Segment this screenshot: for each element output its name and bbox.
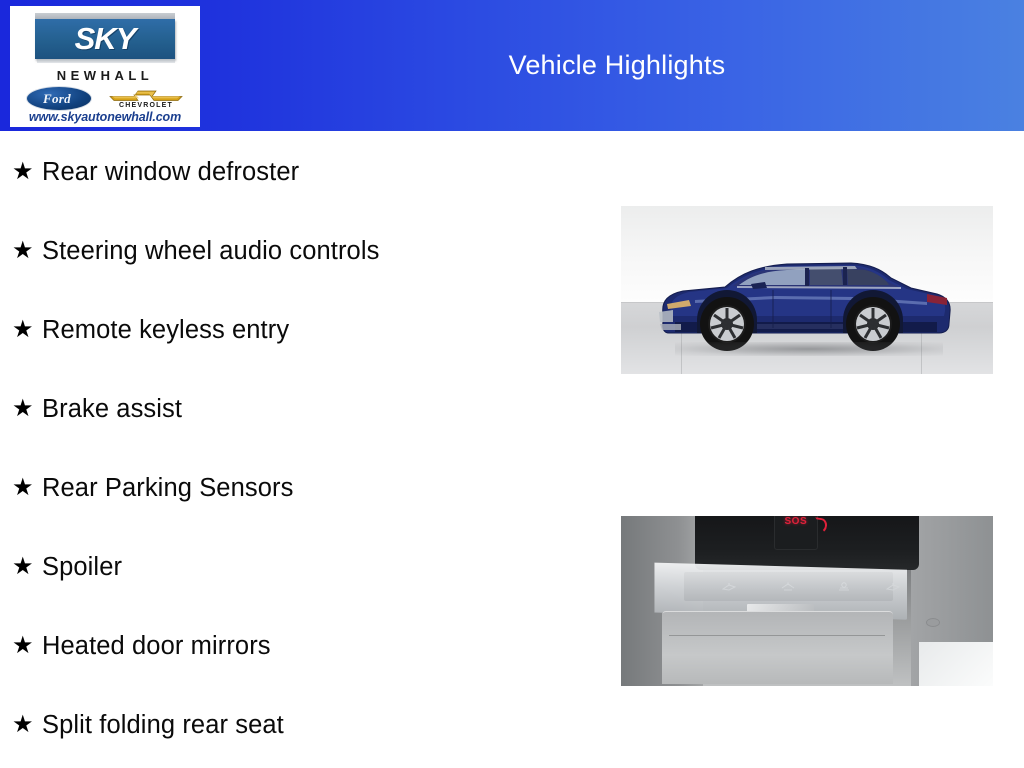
list-item: ★ Rear window defroster bbox=[12, 155, 299, 189]
list-item: ★ Steering wheel audio controls bbox=[12, 234, 379, 268]
badge-bottom-bar bbox=[37, 59, 175, 63]
slide-header-banner: Vehicle Highlights SKY NEWHALL Ford CHEV… bbox=[0, 0, 1024, 131]
list-item: ★ Rear Parking Sensors bbox=[12, 471, 293, 505]
vehicle-exterior-photo bbox=[621, 206, 993, 374]
star-bullet-icon: ★ bbox=[12, 318, 42, 342]
star-bullet-icon: ★ bbox=[12, 239, 42, 263]
sky-brand-badge: SKY bbox=[35, 13, 175, 63]
suv-side-view-illustration bbox=[655, 242, 955, 360]
sos-label: SOS bbox=[774, 516, 819, 527]
list-item: ★ Heated door mirrors bbox=[12, 629, 271, 663]
list-item: ★ Spoiler bbox=[12, 550, 122, 584]
dealer-logo[interactable]: SKY NEWHALL Ford CHEVROLET www.skyautone… bbox=[10, 6, 200, 127]
feature-label: Split folding rear seat bbox=[42, 711, 284, 740]
dealer-location-label: NEWHALL bbox=[10, 68, 200, 83]
list-item: ★ Split folding rear seat bbox=[12, 708, 284, 742]
sky-wordmark: SKY bbox=[35, 19, 175, 59]
dealer-website-url: www.skyautonewhall.com bbox=[10, 110, 200, 124]
sunglasses-holder-door[interactable] bbox=[662, 611, 893, 683]
chevrolet-wordmark: CHEVROLET bbox=[108, 102, 184, 109]
sunglasses-holder-seam bbox=[669, 635, 885, 636]
feature-label: Heated door mirrors bbox=[42, 632, 271, 661]
grab-handle-hook-icon bbox=[926, 618, 940, 627]
list-item: ★ Brake assist bbox=[12, 392, 182, 426]
feature-label: Spoiler bbox=[42, 553, 122, 582]
side-window-glare bbox=[919, 642, 993, 686]
list-item: ★ Remote keyless entry bbox=[12, 313, 289, 347]
feature-label: Remote keyless entry bbox=[42, 316, 289, 345]
star-bullet-icon: ★ bbox=[12, 634, 42, 658]
star-bullet-icon: ★ bbox=[12, 160, 42, 184]
feature-label: Rear Parking Sensors bbox=[42, 474, 293, 503]
feature-label: Rear window defroster bbox=[42, 158, 299, 187]
vehicle-ground-shadow bbox=[675, 342, 943, 356]
chevrolet-bowtie-icon bbox=[108, 88, 184, 103]
ford-wordmark: Ford bbox=[24, 86, 90, 111]
feature-label: Steering wheel audio controls bbox=[42, 237, 379, 266]
star-bullet-icon: ★ bbox=[12, 555, 42, 579]
vehicle-interior-photo: SOS bbox=[621, 516, 993, 686]
feature-label: Brake assist bbox=[42, 395, 182, 424]
star-bullet-icon: ★ bbox=[12, 713, 42, 737]
star-bullet-icon: ★ bbox=[12, 397, 42, 421]
page-title: Vehicle Highlights bbox=[210, 0, 1024, 131]
chevrolet-badge: CHEVROLET bbox=[108, 87, 184, 111]
star-bullet-icon: ★ bbox=[12, 476, 42, 500]
franchise-badges: Ford CHEVROLET bbox=[24, 86, 186, 112]
